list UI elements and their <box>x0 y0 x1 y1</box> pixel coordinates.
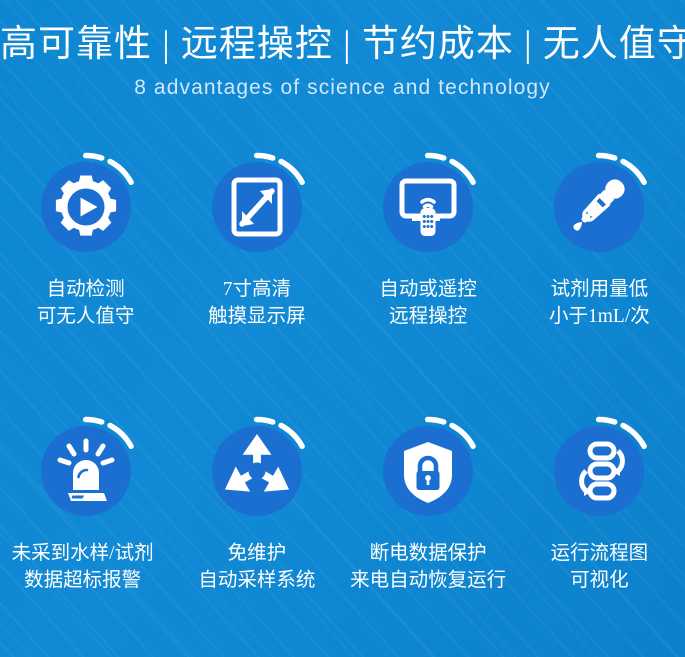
monitor-remote-wifi-icon <box>371 150 485 264</box>
feature-caption-5: 未采到水样/试剂 数据超标报警 <box>12 540 154 594</box>
feature-caption-4-line2: 小于1mL/次 <box>549 303 650 330</box>
feature-caption-6-line2: 自动采样系统 <box>198 567 315 594</box>
feature-caption-1-line2: 可无人值守 <box>37 303 135 330</box>
flowchart-loop-icon <box>542 414 656 528</box>
feature-item-2[interactable]: 7寸高清 触摸显示屏 <box>171 150 342 390</box>
page-title: 高可靠性 | 远程操控 | 节约成本 | 无人值守 <box>0 22 685 68</box>
feature-grid: 自动检测 可无人值守 <box>0 150 685 654</box>
feature-item-6[interactable]: 免维护 自动采样系统 <box>171 414 342 654</box>
feature-caption-1: 自动检测 可无人值守 <box>37 276 135 330</box>
feature-caption-7: 断电数据保护 来电自动恢复运行 <box>350 540 506 594</box>
feature-item-1[interactable]: 自动检测 可无人值守 <box>0 150 171 390</box>
feature-caption-5-line1: 未采到水样/试剂 <box>12 543 154 564</box>
feature-item-3[interactable]: 自动或遥控 远程操控 <box>343 150 514 390</box>
feature-row-1: 自动检测 可无人值守 <box>0 150 685 390</box>
shield-lock-icon <box>371 414 485 528</box>
dropper-pipette-icon <box>542 150 656 264</box>
feature-item-7[interactable]: 断电数据保护 来电自动恢复运行 <box>343 414 514 654</box>
feature-caption-6-line1: 免维护 <box>228 543 287 564</box>
feature-caption-8: 运行流程图 可视化 <box>551 540 649 594</box>
feature-caption-8-line2: 可视化 <box>551 567 649 594</box>
feature-caption-2-line2: 触摸显示屏 <box>208 303 306 330</box>
feature-caption-2: 7寸高清 触摸显示屏 <box>208 276 306 330</box>
feature-caption-1-line1: 自动检测 <box>47 279 125 300</box>
feature-caption-6: 免维护 自动采样系统 <box>198 540 315 594</box>
expand-screen-icon <box>200 150 314 264</box>
feature-caption-7-line1: 断电数据保护 <box>370 543 487 564</box>
feature-caption-5-line2: 数据超标报警 <box>12 567 154 594</box>
gear-play-icon <box>29 150 143 264</box>
feature-item-4[interactable]: 试剂用量低 小于1mL/次 <box>514 150 685 390</box>
feature-caption-3: 自动或遥控 远程操控 <box>379 276 477 330</box>
feature-item-5[interactable]: 未采到水样/试剂 数据超标报警 <box>0 414 171 654</box>
promo-poster: 高可靠性 | 远程操控 | 节约成本 | 无人值守 8 advantages o… <box>0 0 685 657</box>
feature-caption-4-line1: 试剂用量低 <box>551 279 649 300</box>
feature-caption-4: 试剂用量低 小于1mL/次 <box>549 276 650 330</box>
feature-caption-3-line1: 自动或遥控 <box>379 279 477 300</box>
feature-item-8[interactable]: 运行流程图 可视化 <box>514 414 685 654</box>
recycle-icon <box>200 414 314 528</box>
page-subtitle: 8 advantages of science and technology <box>0 75 685 101</box>
feature-caption-7-line2: 来电自动恢复运行 <box>350 567 506 594</box>
alarm-siren-icon <box>29 414 143 528</box>
feature-caption-8-line1: 运行流程图 <box>551 543 649 564</box>
poster-header: 高可靠性 | 远程操控 | 节约成本 | 无人值守 8 advantages o… <box>0 0 685 101</box>
feature-caption-3-line2: 远程操控 <box>379 303 477 330</box>
feature-row-2: 未采到水样/试剂 数据超标报警 <box>0 414 685 654</box>
feature-caption-2-line1: 7寸高清 <box>223 279 291 300</box>
